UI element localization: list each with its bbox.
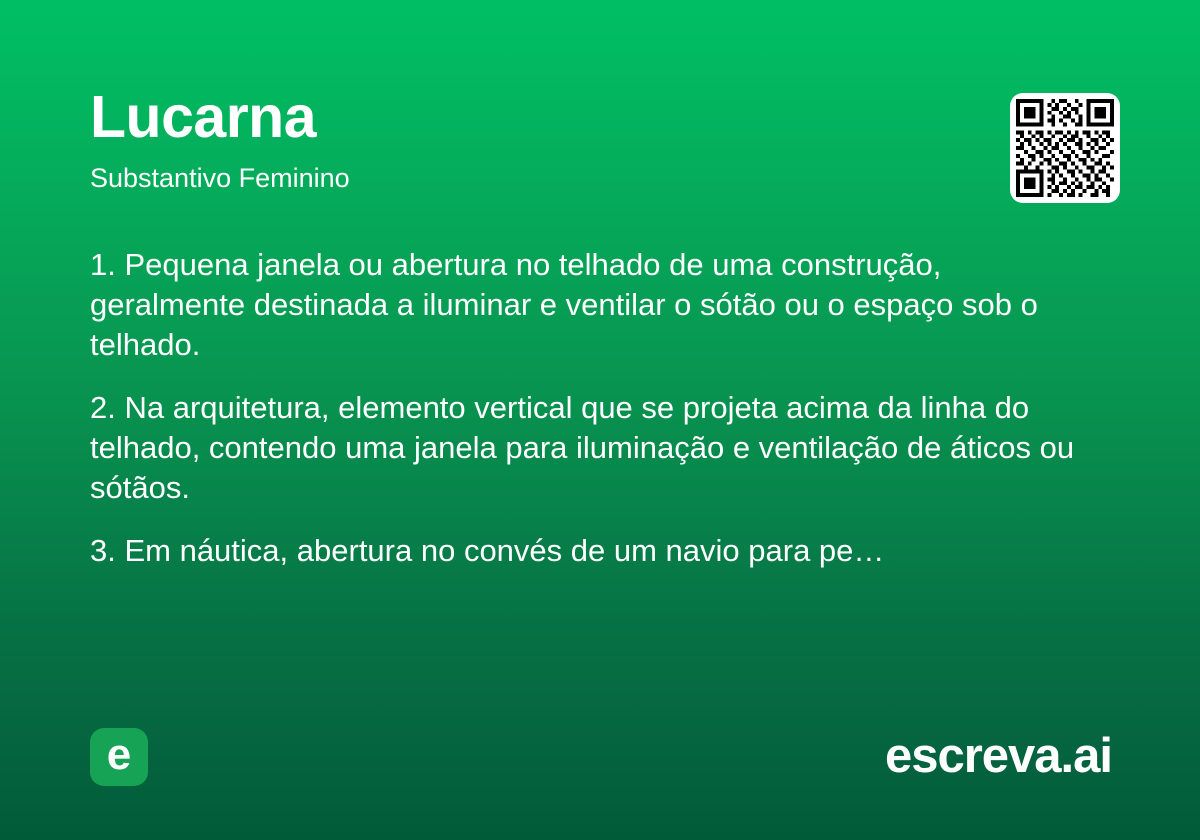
brand-wordmark: escreva.ai xyxy=(885,730,1112,784)
dictionary-card: Lucarna Substantivo Feminino xyxy=(0,0,1200,840)
page-title: Lucarna xyxy=(90,88,990,147)
qr-code-icon[interactable] xyxy=(1010,93,1120,203)
logo-letter: e xyxy=(107,733,131,777)
definition-item: 3. Em náutica, abertura no convés de um … xyxy=(90,531,1075,571)
definition-item: 1. Pequena janela ou abertura no telhado… xyxy=(90,245,1075,365)
card-header: Lucarna Substantivo Feminino xyxy=(90,88,990,194)
word-class-label: Substantivo Feminino xyxy=(90,164,990,194)
definition-list: 1. Pequena janela ou abertura no telhado… xyxy=(90,245,1090,571)
card-footer: e escreva.ai xyxy=(0,728,1200,790)
definition-item: 2. Na arquitetura, elemento vertical que… xyxy=(90,388,1075,508)
qr-code-svg xyxy=(1016,99,1114,197)
escreva-logo-icon[interactable]: e xyxy=(90,728,148,786)
